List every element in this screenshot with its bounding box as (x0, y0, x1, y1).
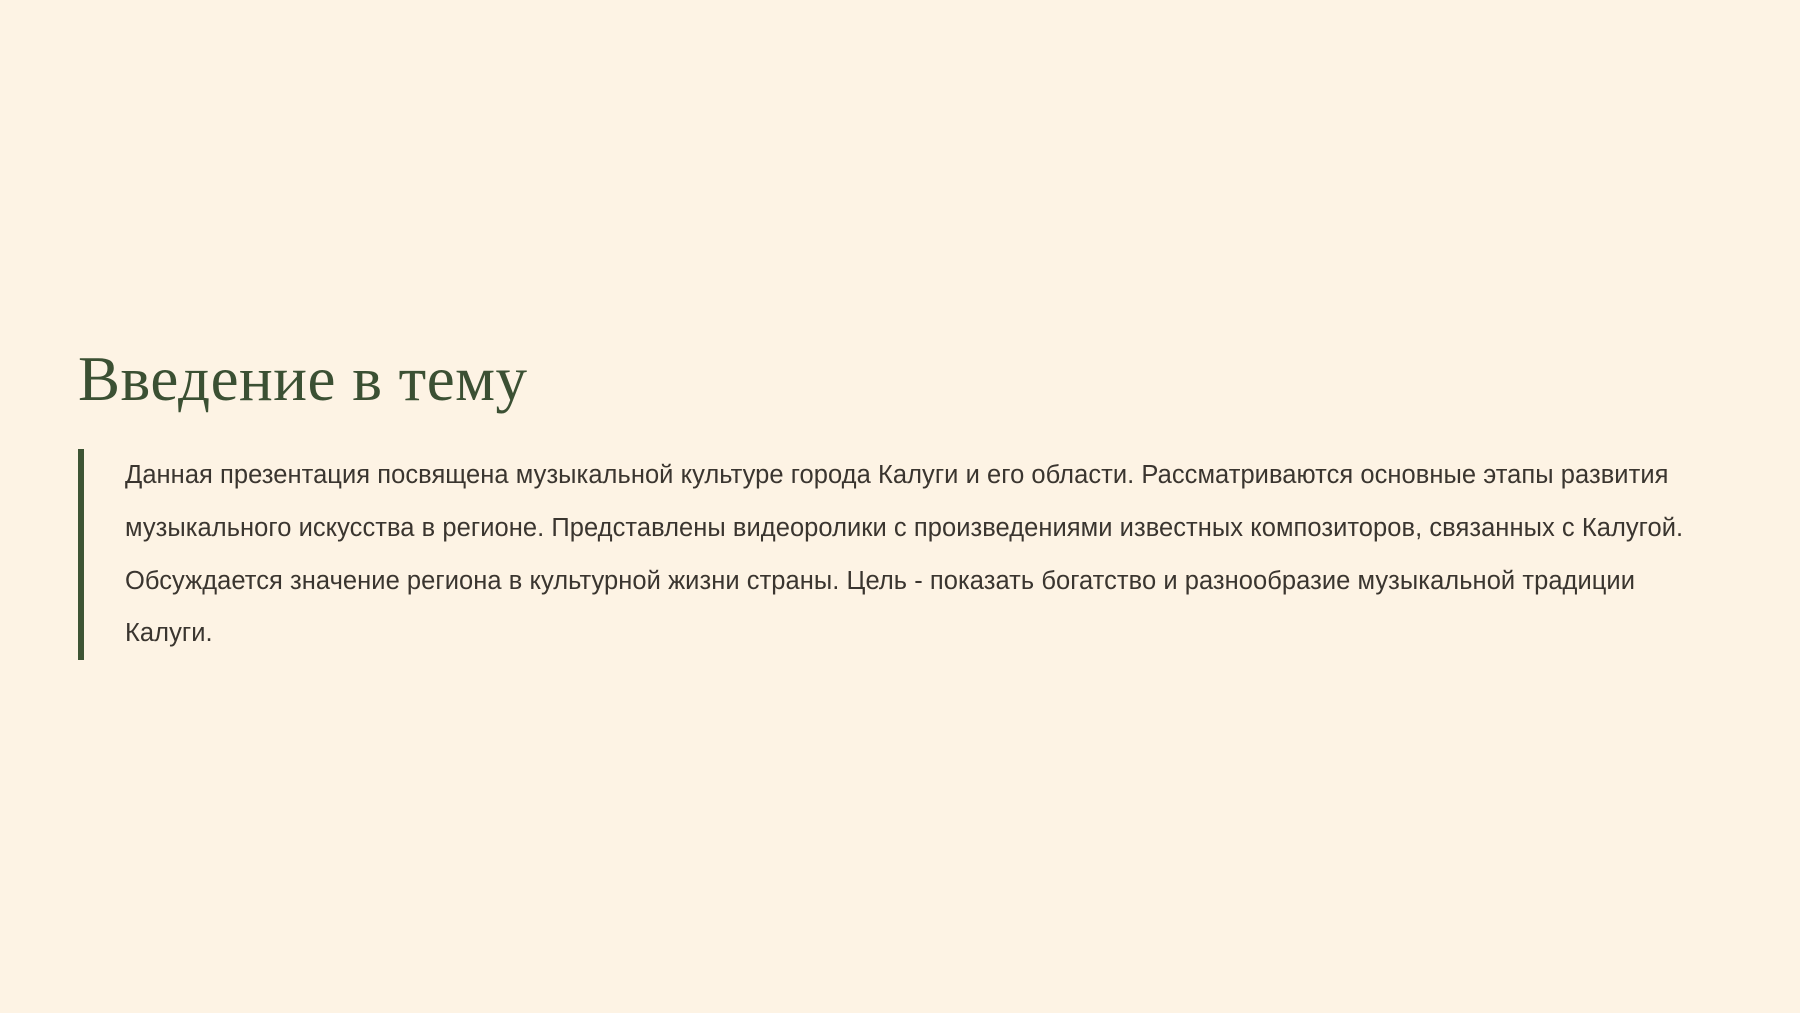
body-callout-block: Данная презентация посвящена музыкальной… (78, 449, 1718, 660)
page-title: Введение в тему (78, 345, 1718, 413)
slide-content: Введение в тему Данная презентация посвя… (78, 345, 1718, 660)
presentation-slide: Введение в тему Данная презентация посвя… (0, 0, 1800, 1013)
body-paragraph: Данная презентация посвящена музыкальной… (125, 449, 1700, 660)
accent-bar (78, 449, 84, 660)
